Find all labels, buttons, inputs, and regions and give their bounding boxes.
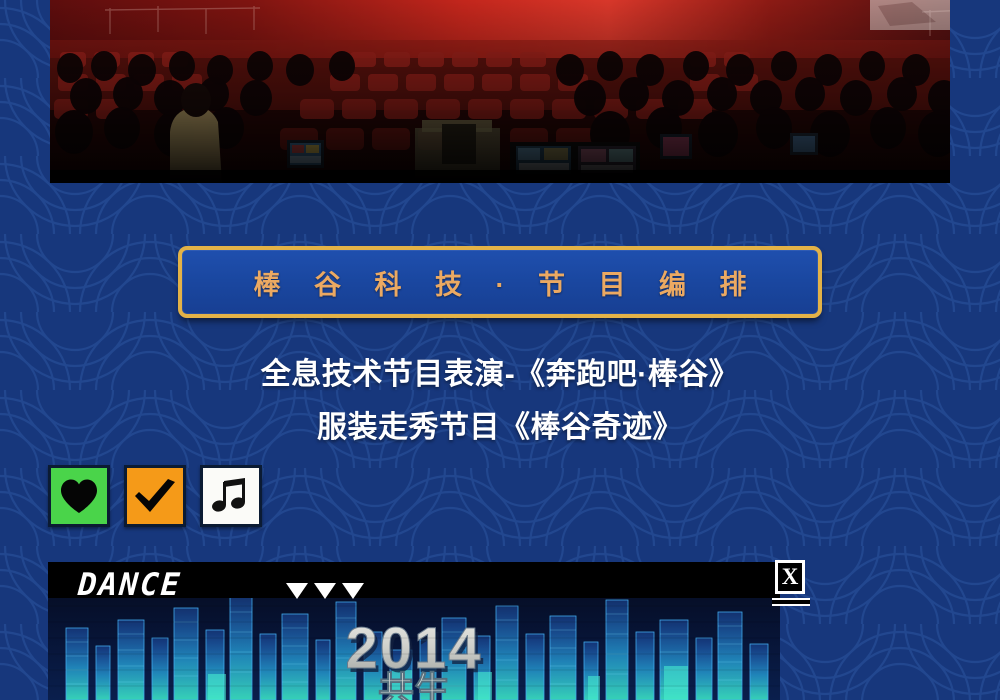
video-preview-panel[interactable]: 2014 2014 共生 DANCE (48, 562, 780, 700)
close-button-underline (772, 598, 810, 606)
page-root: 棒 谷 科 技 · 节 目 编 排 全息技术节目表演-《奔跑吧·棒谷》 服装走秀… (0, 0, 1000, 700)
video-arrow-group (286, 583, 364, 599)
heart-icon-box[interactable] (48, 465, 110, 527)
section-banner: 棒 谷 科 技 · 节 目 编 排 (178, 246, 822, 318)
headline-group: 全息技术节目表演-《奔跑吧·棒谷》 服装走秀节目《棒谷奇迹》 (0, 348, 1000, 454)
close-icon[interactable]: X (775, 560, 805, 594)
music-icon (211, 476, 251, 516)
headline-line-2: 服装走秀节目《棒谷奇迹》 (0, 401, 1000, 454)
icon-row (48, 465, 262, 527)
event-audience-photo (50, 0, 950, 183)
heart-icon (59, 478, 99, 514)
triangle-down-icon-2 (314, 583, 336, 599)
svg-text:共生: 共生 (378, 670, 450, 700)
music-icon-box[interactable] (200, 465, 262, 527)
headline-line-1: 全息技术节目表演-《奔跑吧·棒谷》 (0, 348, 1000, 401)
check-icon-box[interactable] (124, 465, 186, 527)
check-icon (133, 477, 177, 515)
video-dance-label: DANCE (77, 570, 182, 601)
triangle-down-icon-3 (342, 583, 364, 599)
triangle-down-icon-1 (286, 583, 308, 599)
banner-title: 棒 谷 科 技 · 节 目 编 排 (240, 263, 759, 302)
banner-box: 棒 谷 科 技 · 节 目 编 排 (178, 246, 822, 318)
